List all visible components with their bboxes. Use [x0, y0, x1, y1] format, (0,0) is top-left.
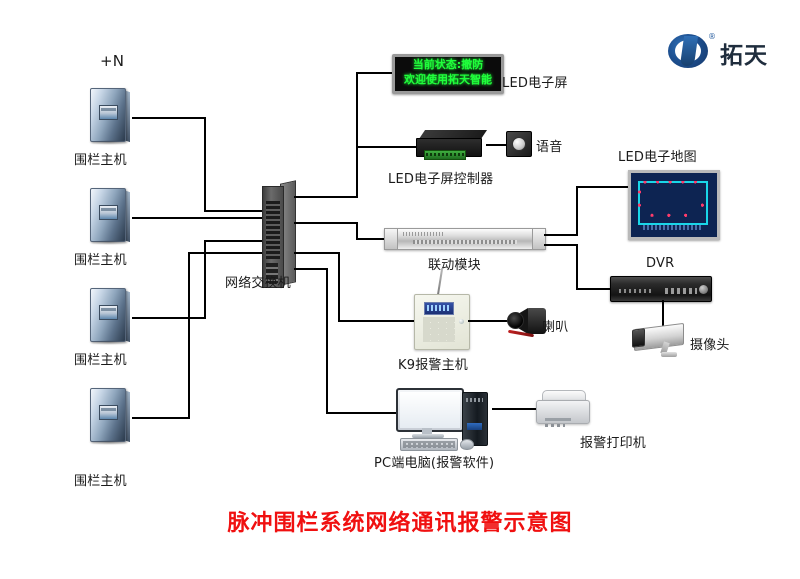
- fence-host-label-4: 围栏主机: [74, 470, 127, 489]
- wire-to-led-map: [576, 186, 630, 188]
- pc-mouse-icon: [460, 439, 474, 450]
- wire-fence1-down: [204, 117, 206, 212]
- horn-ring-icon: [507, 312, 524, 329]
- dvr-buttons-icon: [665, 288, 697, 294]
- device-shadow: [88, 140, 130, 145]
- wire-branch-a-up: [356, 72, 358, 198]
- linkage-module-label: 联动模块: [428, 254, 481, 273]
- wire-switch-branch-d: [294, 268, 328, 270]
- fence-host-device-1: [86, 88, 132, 146]
- wire-to-led-screen: [356, 72, 394, 74]
- wire-fence2-to-switch: [132, 217, 264, 219]
- camera-base: [661, 352, 677, 357]
- wire-to-k9-alarm-host: [338, 320, 416, 322]
- wire-controller-to-voice: [486, 144, 508, 146]
- pc-keyboard-icon: [400, 438, 458, 451]
- linkage-port-strip-icon: [413, 240, 517, 244]
- dvr-front-text-icon: [619, 289, 653, 293]
- fence-host-label-2: 围栏主机: [74, 249, 127, 268]
- device-shadow: [88, 440, 130, 445]
- wire-to-led-controller: [356, 146, 418, 148]
- diagram-canvas: ® 拓天 +N 围栏主机 围栏主机 围栏主机 围栏主机: [0, 0, 800, 579]
- wire-branch-c-down: [338, 252, 340, 322]
- registered-mark: ®: [708, 32, 716, 41]
- wire-pc-to-printer: [492, 408, 538, 410]
- rack-ear-right: [532, 228, 546, 250]
- switch-ports-icon: [266, 201, 280, 259]
- wire-linkage-up-branch: [544, 234, 578, 236]
- wire-fence3-to-switch: [204, 240, 264, 242]
- alarm-printer-device: [536, 390, 590, 426]
- wire-to-dvr: [576, 288, 612, 290]
- fence-host-device-4: [86, 388, 132, 446]
- led-display-screen: 当前状态:撤防 欢迎使用拓天智能: [392, 54, 504, 94]
- wire-linkage-down-branch: [544, 244, 578, 246]
- fence-host-label-3: 围栏主机: [74, 349, 127, 368]
- led-display-screen-label: LED电子屏: [502, 72, 568, 91]
- led-screen-line-1: 当前状态:撤防: [395, 57, 501, 72]
- wire-to-pc: [326, 412, 398, 414]
- diagram-title: 脉冲围栏系统网络通讯报警示意图: [0, 505, 800, 537]
- dvr-label: DVR: [646, 256, 674, 271]
- rack-ear-left: [384, 228, 398, 250]
- wire-switch-branch-b: [294, 222, 356, 224]
- k9-alarm-host-label: K9报警主机: [398, 354, 468, 373]
- tuotian-circle-logo-icon: [668, 34, 708, 68]
- camera-device: [630, 320, 692, 360]
- wire-fence4-right: [132, 417, 190, 419]
- wire-fence4-to-switch: [188, 252, 264, 254]
- multiplier-label: +N: [100, 52, 124, 70]
- camera-label: 摄像头: [690, 334, 730, 353]
- controller-terminal-block-icon: [424, 150, 466, 160]
- device-screen-icon: [99, 305, 118, 320]
- k9-body: [414, 294, 470, 350]
- k9-status-led-icon: [459, 319, 464, 324]
- linkage-panel-text-icon: [403, 232, 443, 236]
- wire-led-map-up: [576, 186, 578, 236]
- k9-alarm-host-device: [414, 294, 470, 350]
- fence-host-device-2: [86, 188, 132, 246]
- camera-lens-icon: [632, 328, 645, 348]
- device-shadow: [88, 340, 130, 345]
- led-map-frame: [628, 170, 720, 240]
- led-map-label: LED电子地图: [618, 146, 697, 165]
- device-shadow: [88, 240, 130, 245]
- device-screen-icon: [99, 205, 118, 220]
- k9-display-icon: [424, 302, 454, 315]
- printer-paper-slot-icon: [545, 418, 571, 421]
- printer-body: [536, 400, 590, 424]
- wire-to-linkage-module: [356, 238, 386, 240]
- led-map-caption-icon: [643, 225, 703, 230]
- pc-workstation-label: PC端电脑(报警软件): [374, 452, 494, 471]
- printer-buttons-icon: [545, 424, 565, 427]
- dvr-jog-dial-icon: [699, 285, 708, 294]
- brand-logo: ® 拓天: [668, 32, 788, 74]
- wire-k9-to-horn: [468, 320, 508, 322]
- dvr-body: [610, 276, 712, 302]
- brand-name: 拓天: [720, 36, 768, 70]
- alarm-printer-label: 报警打印机: [580, 432, 646, 451]
- led-map-zone-indicators: [638, 181, 708, 225]
- led-screen-controller-device: [416, 130, 488, 160]
- network-switch-label: 网络交换机: [225, 272, 291, 291]
- wire-fence3-right: [132, 317, 206, 319]
- wire-switch-branch-c: [294, 252, 340, 254]
- pc-monitor-icon: [396, 388, 464, 432]
- led-screen-line-2: 欢迎使用拓天智能: [395, 72, 501, 87]
- k9-keypad-icon: [423, 317, 455, 342]
- led-screen-controller-label: LED电子屏控制器: [388, 168, 493, 187]
- speaker-lens-icon: [512, 137, 526, 151]
- device-screen-icon: [99, 105, 118, 120]
- wire-branch-d-down: [326, 268, 328, 414]
- wire-fence1-to-switch: [204, 210, 264, 212]
- voice-module-label: 语音: [536, 136, 562, 155]
- voice-module-device: [506, 131, 532, 157]
- fence-host-device-3: [86, 288, 132, 346]
- wire-switch-branch-a: [294, 196, 358, 198]
- wire-dvr-down: [576, 244, 578, 290]
- led-electronic-map-device: [628, 170, 716, 236]
- wire-fence4-up: [188, 252, 190, 419]
- pc-workstation-device: [396, 388, 504, 450]
- linkage-module-device: [384, 228, 546, 250]
- pc-tower-icon: [462, 392, 488, 446]
- fence-host-label-1: 围栏主机: [74, 149, 127, 168]
- device-screen-icon: [99, 405, 118, 420]
- linkage-panel: [384, 228, 546, 250]
- wire-fence1-right: [132, 117, 206, 119]
- horn-speaker-label: 喇叭: [542, 316, 568, 335]
